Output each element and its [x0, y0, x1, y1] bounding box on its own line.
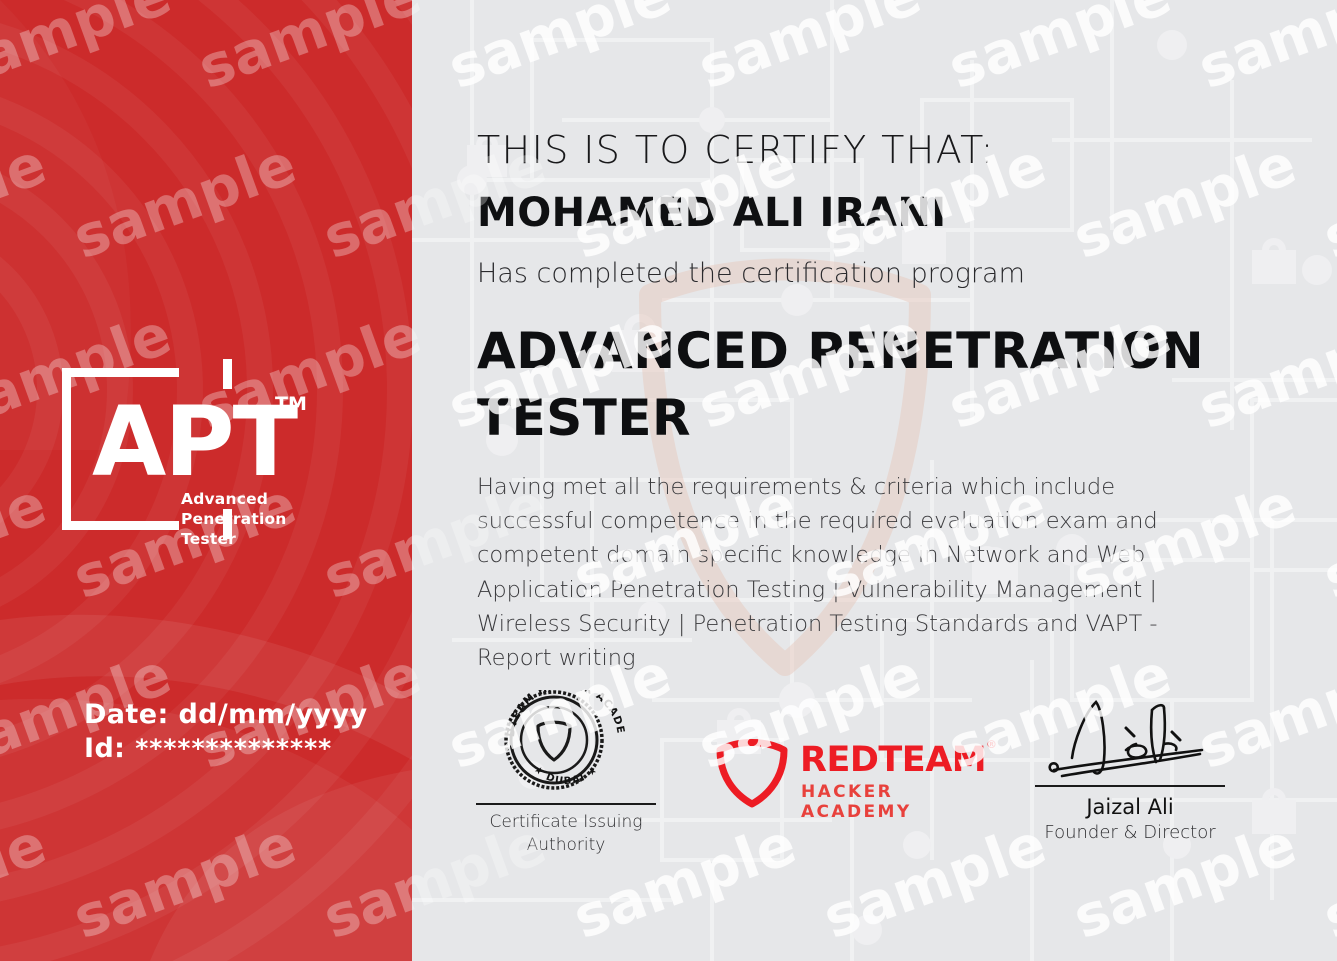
- signature-rule: [1035, 785, 1225, 787]
- apt-logo-subtitle-line1: Advanced: [181, 490, 327, 510]
- red-side-panel: APT TM Advanced Penetration Tester Date:…: [0, 0, 412, 961]
- apt-logo-acronym: APT: [92, 394, 296, 490]
- certificate-id-value: **************: [135, 734, 332, 763]
- svg-text:★ DUBAI ★: ★ DUBAI ★: [531, 764, 600, 787]
- signature-block: Jaizal Ali Founder & Director: [1030, 688, 1230, 843]
- signatory-name: Jaizal Ali: [1030, 795, 1230, 819]
- redteam-brand-tagline: HACKER ACADEMY: [801, 782, 1002, 822]
- issuing-authority-caption: Certificate Issuing Authority: [466, 811, 666, 857]
- completion-subheading: Has completed the certification program: [477, 258, 1025, 289]
- issue-date: Date: dd/mm/yyyy: [84, 698, 368, 732]
- criteria-paragraph: Having met all the requirements & criter…: [477, 470, 1237, 675]
- issuing-authority-caption-line1: Certificate Issuing: [466, 811, 666, 834]
- apt-logo-frame-corner-top: [223, 359, 232, 389]
- trademark-icon: TM: [275, 393, 307, 415]
- official-seal-icon: REDTEAM HACKER ACADEMY ★ DUBAI ★: [466, 690, 666, 794]
- certificate: APT TM Advanced Penetration Tester Date:…: [0, 0, 1337, 961]
- issuing-authority-rule: [476, 803, 656, 805]
- issuing-authority-block: REDTEAM HACKER ACADEMY ★ DUBAI ★ Certifi…: [466, 690, 666, 856]
- issuing-authority-caption-line2: Authority: [466, 834, 666, 857]
- redteam-brand-lockup: REDTEAM ® HACKER ACADEMY: [712, 736, 1002, 808]
- apt-logo-subtitle: Advanced Penetration Tester: [181, 490, 327, 549]
- signatory-role: Founder & Director: [1030, 822, 1230, 843]
- program-title: ADVANCED PENETRATION TESTER: [477, 318, 1217, 452]
- certificate-id: Id: **************: [84, 732, 368, 766]
- redteam-shield-icon: [712, 736, 792, 808]
- recipient-name: MOHAMED ALI IRANI: [477, 190, 947, 236]
- registered-mark-icon: ®: [986, 738, 997, 751]
- redteam-brand-name: REDTEAM: [800, 740, 986, 780]
- issue-details: Date: dd/mm/yyyy Id: **************: [84, 698, 368, 767]
- apt-logo: APT TM Advanced Penetration Tester: [62, 368, 327, 530]
- certificate-id-label: Id:: [84, 733, 125, 764]
- handwritten-signature-icon: [1040, 688, 1220, 783]
- certify-heading: THIS IS TO CERTIFY THAT:: [477, 128, 995, 172]
- apt-logo-subtitle-line2: Penetration Tester: [181, 510, 327, 550]
